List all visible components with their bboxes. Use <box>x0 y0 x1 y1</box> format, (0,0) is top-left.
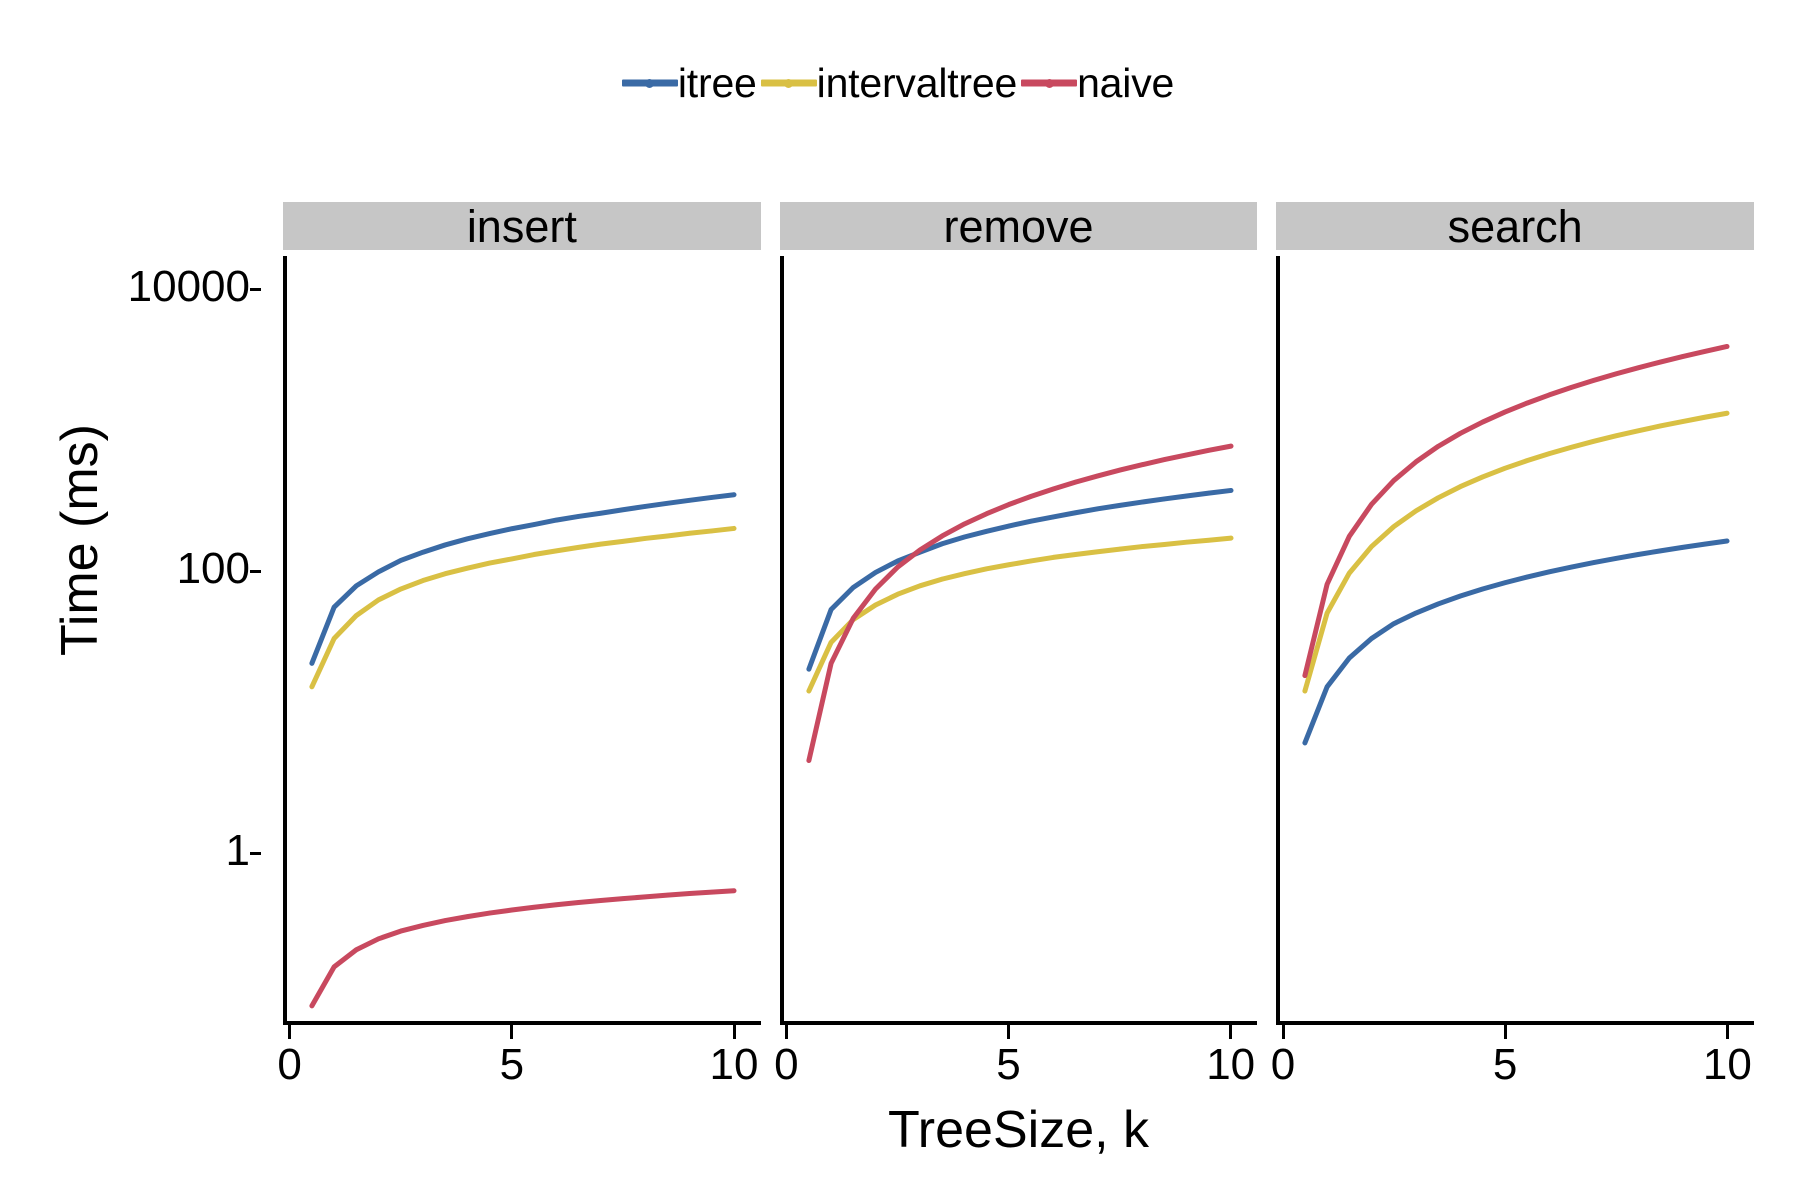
facet-strip-insert: insert <box>283 202 761 250</box>
data-point <box>533 552 536 557</box>
facet-panel-search: search0510 <box>1276 202 1754 1025</box>
data-point <box>896 565 899 570</box>
data-point <box>1118 503 1121 508</box>
panel-y-axis-line <box>1276 256 1280 1025</box>
data-point <box>896 592 899 597</box>
x-axis-title: TreeSize, k <box>283 1095 1754 1165</box>
data-point <box>1415 611 1418 616</box>
data-point <box>1229 488 1232 493</box>
data-point <box>533 522 536 527</box>
data-point <box>422 923 425 928</box>
data-point <box>1570 445 1573 450</box>
chart-root: itreeintervaltreenaive Time (ms) 1000010… <box>0 0 1800 1200</box>
data-point <box>710 495 713 500</box>
data-point <box>1007 562 1010 567</box>
data-point <box>1459 431 1462 436</box>
y-axis-tick-label: 1 <box>226 829 250 873</box>
x-axis-tick-label: 5 <box>500 1043 524 1087</box>
data-point <box>422 578 425 583</box>
data-point <box>1437 602 1440 607</box>
data-point <box>963 535 966 540</box>
data-point <box>1482 475 1485 480</box>
x-axis-tick-label: 0 <box>277 1043 301 1087</box>
data-point <box>1118 468 1121 473</box>
data-point <box>422 550 425 555</box>
data-point <box>1593 439 1596 444</box>
facet-strip-remove: remove <box>780 202 1258 250</box>
data-point <box>918 584 921 589</box>
x-axis-tick-mark <box>1007 1025 1010 1039</box>
data-point <box>333 636 336 641</box>
data-point <box>666 501 669 506</box>
data-point <box>1118 547 1121 552</box>
data-point <box>310 1004 313 1009</box>
data-point <box>1681 545 1684 550</box>
data-point <box>1096 549 1099 554</box>
data-point <box>1437 444 1440 449</box>
data-point <box>1326 684 1329 689</box>
series-line-intervaltree <box>312 528 734 686</box>
data-point <box>1704 542 1707 547</box>
data-point <box>1207 491 1210 496</box>
data-point <box>1348 656 1351 661</box>
data-point <box>621 539 624 544</box>
data-point <box>466 914 469 919</box>
x-axis-tick-mark <box>1229 1025 1232 1039</box>
data-point <box>1681 354 1684 359</box>
y-axis-tick-mark <box>250 852 261 855</box>
data-point <box>577 900 580 905</box>
data-point <box>733 492 736 497</box>
data-point <box>829 661 832 666</box>
data-point <box>1570 385 1573 390</box>
data-point <box>1185 494 1188 499</box>
line-marker-key-itree <box>622 63 678 103</box>
data-point <box>807 758 810 763</box>
legend-entry-itree[interactable]: itree <box>622 63 761 104</box>
data-point <box>399 587 402 592</box>
data-point <box>985 529 988 534</box>
data-point <box>1681 419 1684 424</box>
data-point <box>940 577 943 582</box>
data-point <box>466 566 469 571</box>
series-line-itree <box>312 495 734 664</box>
data-point <box>1029 559 1032 564</box>
data-point <box>1370 636 1373 641</box>
data-point <box>1393 524 1396 529</box>
data-point <box>510 557 513 562</box>
data-point <box>688 498 691 503</box>
data-point <box>1726 411 1729 416</box>
data-point <box>985 566 988 571</box>
data-point <box>555 549 558 554</box>
x-axis-tick-mark <box>1504 1025 1507 1039</box>
y-axis-tick-label: 10000 <box>128 265 250 309</box>
data-point <box>733 888 736 893</box>
legend-label: itree <box>678 63 761 104</box>
data-point <box>940 541 943 546</box>
data-point <box>1526 458 1529 463</box>
data-point <box>1659 549 1662 554</box>
data-point <box>688 891 691 896</box>
data-point <box>1326 611 1329 616</box>
line-marker-key-intervaltree <box>761 63 817 103</box>
data-point <box>1185 453 1188 458</box>
series-line-naive <box>1305 346 1727 675</box>
series-points-itree <box>807 488 1232 671</box>
data-point <box>1029 494 1032 499</box>
data-point <box>1659 360 1662 365</box>
data-point <box>1007 502 1010 507</box>
data-point <box>310 684 313 689</box>
data-point <box>963 571 966 576</box>
y-axis-ticks: 100001001 <box>0 0 272 1200</box>
data-point <box>1052 515 1055 520</box>
data-point <box>1459 484 1462 489</box>
data-point <box>710 890 713 895</box>
series-line-itree <box>809 490 1231 669</box>
data-point <box>555 518 558 523</box>
x-axis-tick-label: 10 <box>710 1043 759 1087</box>
data-point <box>710 529 713 534</box>
data-point <box>666 534 669 539</box>
data-point <box>1370 544 1373 549</box>
data-point <box>940 534 943 539</box>
data-point <box>310 661 313 666</box>
series-points-naive <box>807 444 1232 763</box>
data-point <box>896 559 899 564</box>
legend-point-marker <box>645 79 654 88</box>
data-point <box>1052 555 1055 560</box>
legend-label: naive <box>1077 63 1178 104</box>
data-point <box>1726 539 1729 544</box>
series-line-itree <box>1305 541 1727 743</box>
x-axis-tick-label: 10 <box>1703 1043 1752 1087</box>
data-point <box>1704 349 1707 354</box>
data-point <box>1096 507 1099 512</box>
data-point <box>1140 500 1143 505</box>
data-point <box>1185 540 1188 545</box>
facet-panels: insert0510remove0510search0510 <box>283 202 1754 1025</box>
data-point <box>1074 510 1077 515</box>
data-point <box>1348 571 1351 576</box>
series-line-naive <box>809 446 1231 760</box>
data-point <box>733 526 736 531</box>
data-point <box>829 607 832 612</box>
data-point <box>1526 575 1529 580</box>
data-point <box>1415 460 1418 465</box>
data-point <box>599 542 602 547</box>
facet-panel-insert: insert0510 <box>283 202 761 1025</box>
data-point <box>1163 457 1166 462</box>
data-point <box>444 543 447 548</box>
series-canvas <box>1276 256 1754 1025</box>
series-canvas <box>780 256 1258 1025</box>
data-point <box>1096 474 1099 479</box>
x-axis-tick-label: 0 <box>1271 1043 1295 1087</box>
data-point <box>1637 428 1640 433</box>
data-point <box>1637 552 1640 557</box>
facet-strip-label: insert <box>467 204 577 249</box>
data-point <box>852 616 855 621</box>
data-point <box>1504 466 1507 471</box>
data-point <box>1526 401 1529 406</box>
data-point <box>1548 451 1551 456</box>
data-point <box>1326 582 1329 587</box>
data-point <box>599 898 602 903</box>
data-point <box>577 514 580 519</box>
data-point <box>510 908 513 913</box>
data-point <box>1482 587 1485 592</box>
data-point <box>555 902 558 907</box>
x-axis-tick-mark <box>288 1025 291 1039</box>
data-point <box>488 561 491 566</box>
data-point <box>1140 544 1143 549</box>
data-point <box>377 598 380 603</box>
data-point <box>807 689 810 694</box>
data-point <box>1163 497 1166 502</box>
data-point <box>807 667 810 672</box>
x-axis-tick-mark <box>733 1025 736 1039</box>
facet-strip-search: search <box>1276 202 1754 250</box>
data-point <box>1007 524 1010 529</box>
series-canvas <box>283 256 761 1025</box>
data-point <box>1074 480 1077 485</box>
data-point <box>829 640 832 645</box>
data-point <box>1207 538 1210 543</box>
data-point <box>1726 344 1729 349</box>
legend-entry-intervaltree[interactable]: intervaltree <box>761 63 1021 104</box>
data-point <box>399 558 402 563</box>
data-point <box>1229 444 1232 449</box>
data-point <box>963 522 966 527</box>
data-point <box>1393 478 1396 483</box>
data-point <box>533 905 536 910</box>
data-point <box>399 929 402 934</box>
data-point <box>985 511 988 516</box>
data-point <box>377 937 380 942</box>
data-point <box>1482 420 1485 425</box>
data-point <box>644 895 647 900</box>
facet-strip-label: search <box>1448 204 1583 249</box>
legend-point-marker <box>1045 79 1054 88</box>
legend-point-marker <box>784 79 793 88</box>
data-point <box>1348 534 1351 539</box>
data-point <box>874 570 877 575</box>
data-point <box>1504 410 1507 415</box>
x-axis-tick-label: 5 <box>996 1043 1020 1087</box>
data-point <box>333 605 336 610</box>
x-axis-tick-mark <box>1282 1025 1285 1039</box>
data-point <box>1704 415 1707 420</box>
panel-y-axis-line <box>780 256 784 1025</box>
data-point <box>1229 536 1232 541</box>
data-point <box>621 896 624 901</box>
data-point <box>1615 434 1618 439</box>
data-point <box>1593 560 1596 565</box>
data-point <box>510 526 513 531</box>
data-point <box>1504 580 1507 585</box>
y-axis-tick-mark <box>250 288 261 291</box>
y-axis-tick-mark <box>250 570 261 573</box>
data-point <box>1415 509 1418 514</box>
data-point <box>1140 462 1143 467</box>
x-axis-tick-mark <box>510 1025 513 1039</box>
panel-y-axis-line <box>283 256 287 1025</box>
data-point <box>355 584 358 589</box>
series-line-naive <box>312 891 734 1006</box>
data-point <box>1370 502 1373 507</box>
data-point <box>488 531 491 536</box>
data-point <box>488 911 491 916</box>
data-point <box>1304 673 1307 678</box>
legend-entry-naive[interactable]: naive <box>1021 63 1178 104</box>
series-points-itree <box>310 492 735 665</box>
data-point <box>1593 378 1596 383</box>
data-point <box>1207 448 1210 453</box>
data-point <box>1163 542 1166 547</box>
series-line-intervaltree <box>809 538 1231 691</box>
data-point <box>1074 552 1077 557</box>
x-axis-tick-mark <box>785 1025 788 1039</box>
data-point <box>466 537 469 542</box>
data-point <box>1637 365 1640 370</box>
data-point <box>1659 424 1662 429</box>
data-point <box>918 548 921 553</box>
data-point <box>644 536 647 541</box>
facet-panel-remove: remove0510 <box>780 202 1258 1025</box>
x-axis-tick-label: 0 <box>774 1043 798 1087</box>
data-point <box>666 893 669 898</box>
series-points-intervaltree <box>807 536 1232 694</box>
data-point <box>621 507 624 512</box>
series-points-intervaltree <box>310 526 735 689</box>
x-axis-tick-label: 5 <box>1493 1043 1517 1087</box>
plot-area-remove: 0510 <box>780 256 1258 1025</box>
data-point <box>1548 570 1551 575</box>
data-point <box>333 965 336 970</box>
y-axis-tick-label: 100 <box>177 547 250 591</box>
data-point <box>874 603 877 608</box>
data-point <box>1304 741 1307 746</box>
data-point <box>599 511 602 516</box>
data-point <box>1029 519 1032 524</box>
data-point <box>444 918 447 923</box>
data-point <box>1548 393 1551 398</box>
data-point <box>355 613 358 618</box>
x-axis-tick-mark <box>1726 1025 1729 1039</box>
data-point <box>1437 496 1440 501</box>
line-marker-key-naive <box>1021 63 1077 103</box>
data-point <box>444 571 447 576</box>
data-point <box>1459 594 1462 599</box>
plot-area-search: 0510 <box>1276 256 1754 1025</box>
plot-area-insert: 0510 <box>283 256 761 1025</box>
data-point <box>1304 689 1307 694</box>
data-point <box>644 504 647 509</box>
data-point <box>874 587 877 592</box>
data-point <box>1615 556 1618 561</box>
data-point <box>852 585 855 590</box>
data-point <box>355 947 358 952</box>
facet-strip-label: remove <box>943 204 1093 249</box>
data-point <box>377 570 380 575</box>
data-point <box>1393 621 1396 626</box>
data-point <box>1615 372 1618 377</box>
x-axis-tick-label: 10 <box>1206 1043 1255 1087</box>
data-point <box>1052 487 1055 492</box>
data-point <box>688 531 691 536</box>
data-point <box>577 545 580 550</box>
legend-label: intervaltree <box>817 63 1021 104</box>
data-point <box>1570 565 1573 570</box>
